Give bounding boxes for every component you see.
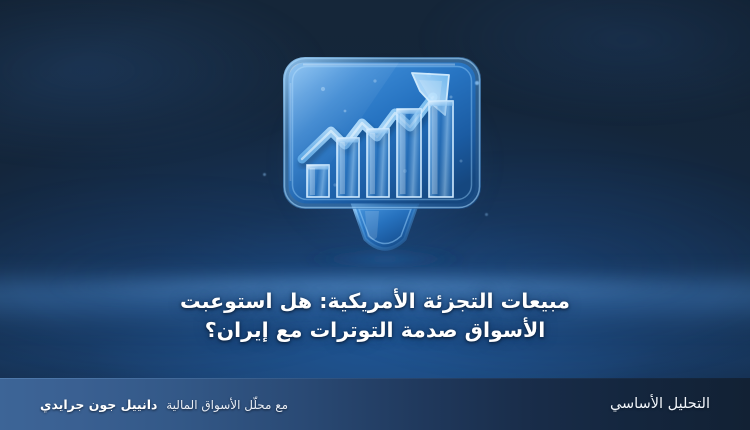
ambient-spark-3 <box>485 213 488 216</box>
hero-icon-artwork <box>279 53 491 267</box>
ambient-spark-1 <box>475 81 479 85</box>
headline-line-2: الأسواق صدمة التوترات مع إيران؟ <box>92 316 658 345</box>
article-cover-card: مبيعات التجزئة الأمريكية: هل استوعبت الأ… <box>0 0 750 430</box>
byline: مع محلّل الأسواق المالية دانييل جون جراي… <box>40 397 288 412</box>
ambient-spark-2 <box>263 173 266 176</box>
footer-bar: التحليل الأساسي مع محلّل الأسواق المالية… <box>0 378 750 430</box>
byline-prefix: مع محلّل الأسواق المالية <box>166 398 288 412</box>
growth-chart-speech-bubble-3d-icon <box>279 53 491 267</box>
bubble-tail <box>353 205 417 249</box>
byline-author-name[interactable]: دانييل جون جرايدي <box>40 397 157 412</box>
section-label[interactable]: التحليل الأساسي <box>610 396 710 412</box>
headline-line-1: مبيعات التجزئة الأمريكية: هل استوعبت <box>92 287 658 316</box>
article-headline: مبيعات التجزئة الأمريكية: هل استوعبت الأ… <box>0 287 750 345</box>
